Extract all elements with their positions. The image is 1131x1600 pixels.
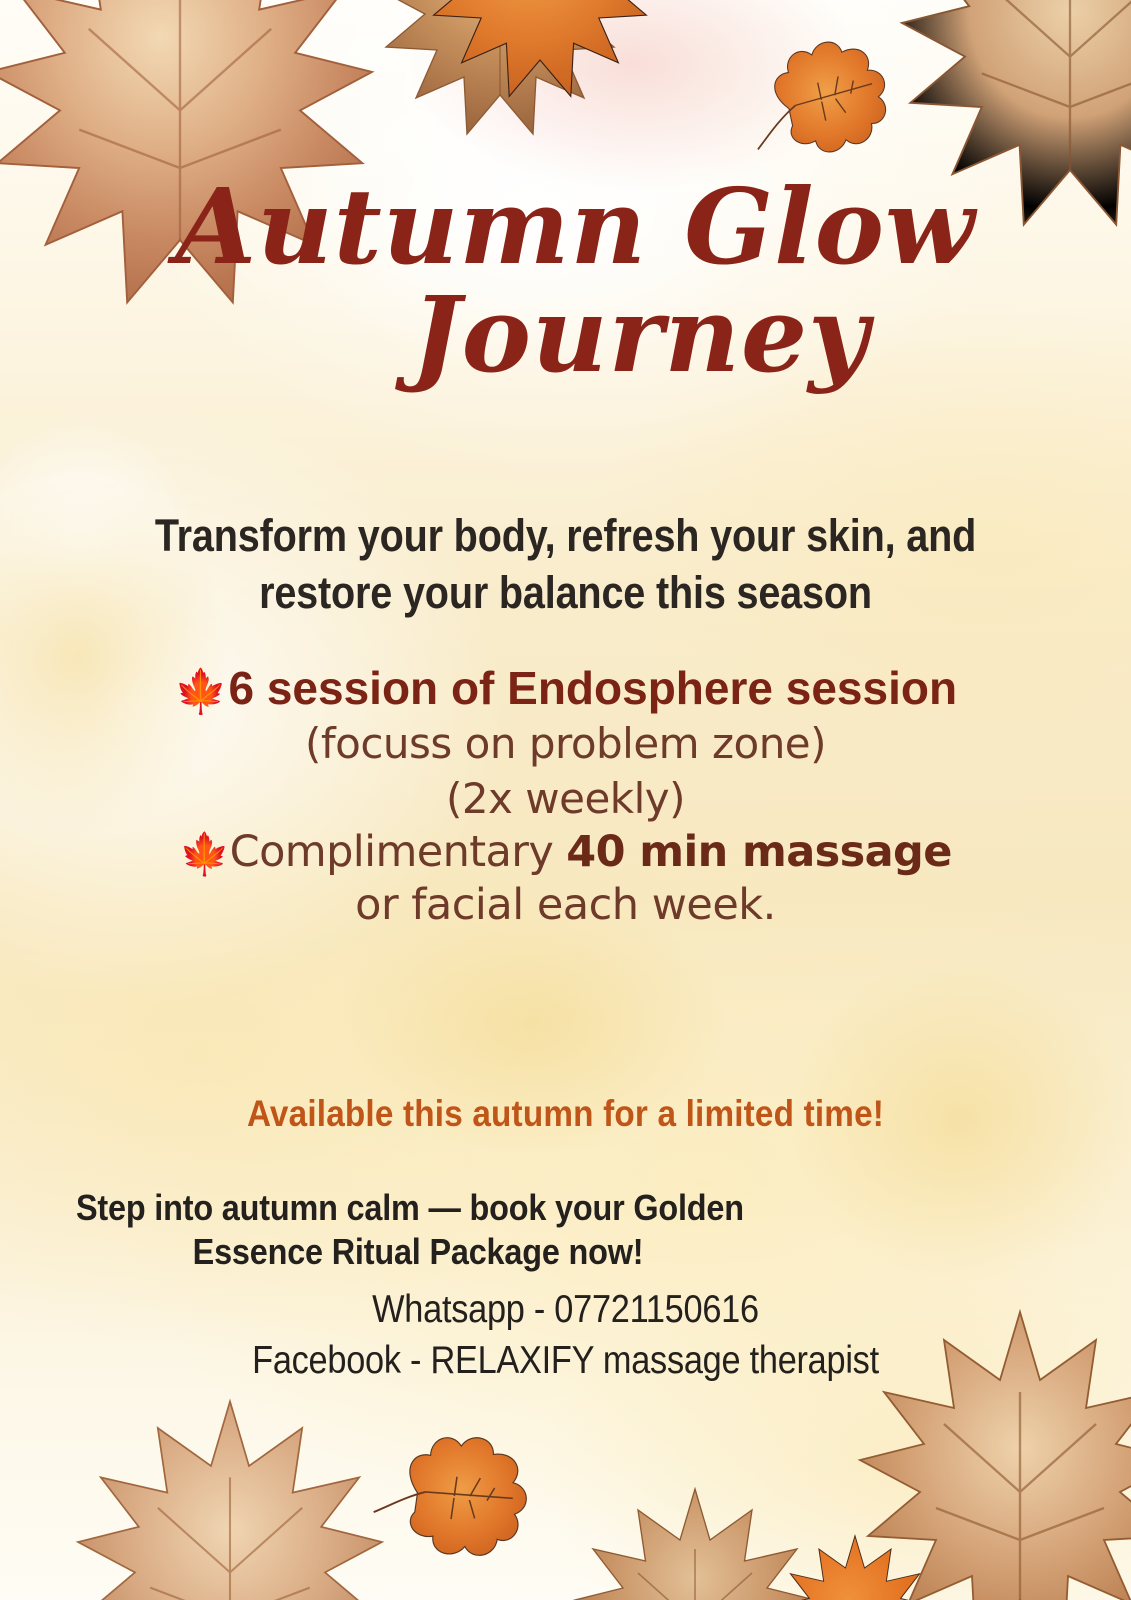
offer-1-detail-2: (2x weekly) — [0, 772, 1131, 827]
contact-facebook[interactable]: Facebook - RELAXIFY massage therapist — [68, 1336, 1063, 1387]
cta-line-1: Step into autumn calm — book your Golden — [76, 1186, 760, 1230]
offer-2-strong: 40 min massage — [566, 827, 952, 877]
poster-canvas: Autumn Glow Journey Transform your body,… — [0, 0, 1131, 1600]
maple-leaf-bullet-icon-2: 🍁 — [179, 830, 229, 878]
cta-line-2: Essence Ritual Package now! — [76, 1230, 760, 1274]
contact-block: Whatsapp - 07721150616 Facebook - RELAXI… — [68, 1285, 1063, 1386]
offer-2-tail: or facial each week. — [0, 878, 1131, 934]
subtitle-line-1: Transform your body, refresh your skin, … — [68, 508, 1063, 565]
offer-1-heading-row: 🍁6 session of Endosphere session — [0, 662, 1131, 717]
limited-time-notice: Available this autumn for a limited time… — [57, 1093, 1075, 1135]
offer-2-heading-row: 🍁Complimentary 40 min massage — [0, 827, 1131, 878]
offer-1-heading: 6 session of Endosphere session — [228, 662, 957, 714]
call-to-action: Step into autumn calm — book your Golden… — [76, 1186, 760, 1274]
maple-leaf-bullet-icon: 🍁 — [174, 668, 228, 716]
contact-whatsapp[interactable]: Whatsapp - 07721150616 — [68, 1285, 1063, 1336]
poster-subtitle: Transform your body, refresh your skin, … — [68, 508, 1063, 621]
offer-1-detail-1: (focuss on problem zone) — [0, 717, 1131, 772]
subtitle-line-2: restore your balance this season — [68, 565, 1063, 622]
poster-title: Autumn Glow Journey — [0, 176, 1131, 386]
title-line-1: Autumn Glow — [0, 176, 1131, 278]
offer-list: 🍁6 session of Endosphere session (focuss… — [0, 662, 1131, 934]
offer-2-lead: Complimentary — [230, 827, 567, 877]
title-line-2: Journey — [0, 284, 1131, 386]
